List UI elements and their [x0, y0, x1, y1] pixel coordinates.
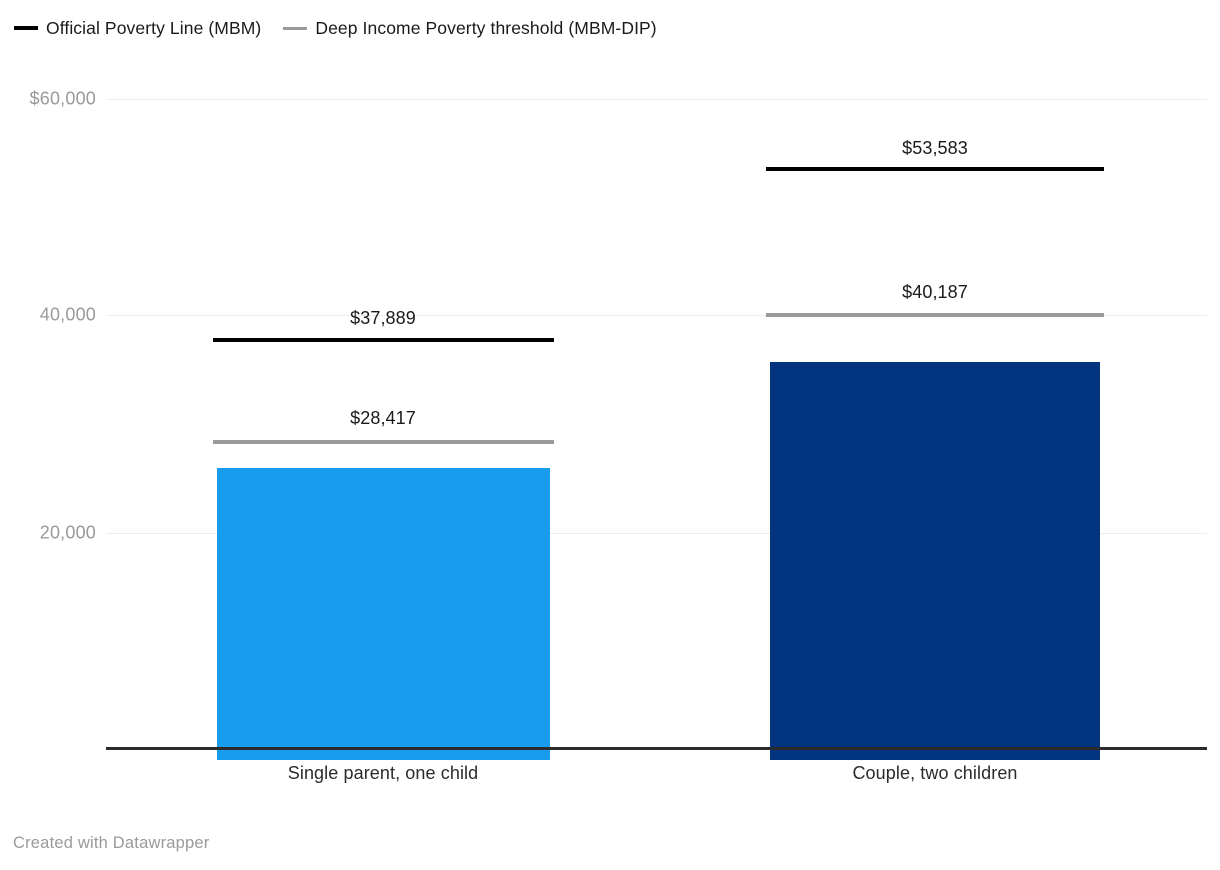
- x-axis-category-couple: Couple, two children: [852, 763, 1017, 784]
- bar-single-parent-one-child[interactable]: [217, 468, 550, 760]
- x-axis-category-single-parent: Single parent, one child: [288, 763, 479, 784]
- threshold-line-official-couple[interactable]: [766, 167, 1104, 171]
- legend-label-official: Official Poverty Line (MBM): [46, 18, 261, 39]
- legend-item-official[interactable]: Official Poverty Line (MBM): [14, 18, 261, 39]
- bar-couple-two-children[interactable]: [770, 362, 1100, 760]
- datawrapper-credit[interactable]: Created with Datawrapper: [13, 834, 209, 853]
- gridline-60000: [106, 99, 1207, 100]
- legend-item-dip[interactable]: Deep Income Poverty threshold (MBM-DIP): [283, 18, 656, 39]
- x-axis-baseline: [106, 747, 1207, 750]
- chart-legend: Official Poverty Line (MBM) Deep Income …: [14, 14, 679, 42]
- chart-plot-area: $60,000 40,000 20,000 $28,417 $37,889 $4…: [0, 60, 1220, 760]
- threshold-line-dip-single-parent[interactable]: [213, 440, 554, 444]
- value-label-dip-single-parent: $28,417: [350, 408, 416, 429]
- y-axis-tick-40000: 40,000: [0, 305, 96, 326]
- legend-line-swatch-dip-icon: [283, 27, 307, 30]
- threshold-line-official-single-parent[interactable]: [213, 338, 554, 342]
- y-axis-tick-20000: 20,000: [0, 523, 96, 544]
- threshold-line-dip-couple[interactable]: [766, 313, 1104, 317]
- y-axis-tick-60000: $60,000: [0, 89, 96, 110]
- legend-label-dip: Deep Income Poverty threshold (MBM-DIP): [315, 18, 656, 39]
- legend-line-swatch-official-icon: [14, 26, 38, 30]
- value-label-official-couple: $53,583: [902, 138, 968, 159]
- value-label-official-single-parent: $37,889: [350, 308, 416, 329]
- value-label-dip-couple: $40,187: [902, 282, 968, 303]
